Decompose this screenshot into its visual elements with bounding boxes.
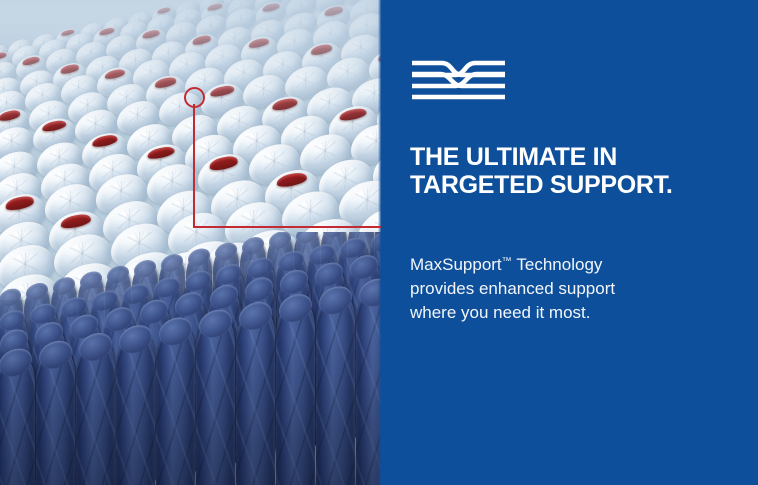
support-coil [236, 305, 275, 485]
body-line-1: MaxSupport™ Technology [410, 250, 695, 277]
support-coil [196, 312, 235, 485]
support-coil [76, 336, 115, 485]
support-coil [356, 281, 381, 485]
support-coil [156, 320, 195, 485]
support-coil [116, 328, 155, 485]
support-coil [36, 343, 75, 485]
navy-coil-field [0, 232, 381, 485]
support-coil [276, 297, 315, 485]
support-coil [0, 351, 35, 485]
page-title: THE ULTIMATE IN TARGETED SUPPORT. [410, 143, 710, 199]
body-copy: MaxSupport™ Technology provides enhanced… [410, 250, 695, 325]
headline-line-2: TARGETED SUPPORT. [410, 171, 710, 199]
body-line-3: where you need it most. [410, 301, 695, 325]
trademark-symbol: ™ [502, 256, 512, 267]
mattress-coil-photo [0, 0, 381, 485]
wave-lines-logo-icon [411, 58, 506, 104]
promo-graphic: THE ULTIMATE IN TARGETED SUPPORT. MaxSup… [0, 0, 758, 485]
headline-line-1: THE ULTIMATE IN [410, 143, 710, 171]
support-coil [316, 289, 355, 485]
body-line-2: provides enhanced support [410, 277, 695, 301]
